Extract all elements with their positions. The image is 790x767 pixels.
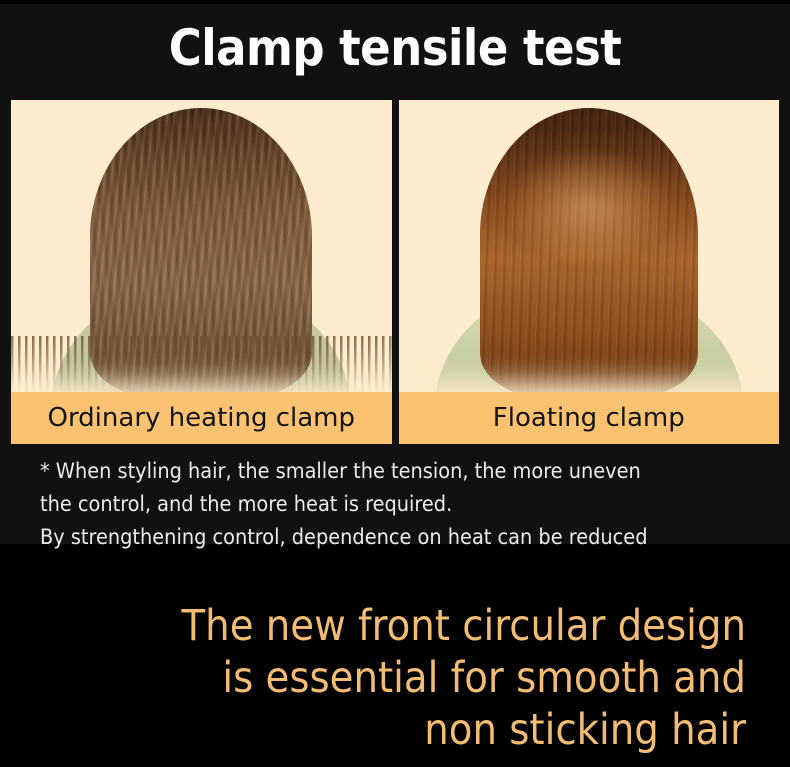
photo-ordinary-heating-clamp — [11, 100, 392, 392]
page-title: Clamp tensile test — [0, 18, 790, 78]
bottom-headline: The new front circular design is essenti… — [36, 600, 746, 756]
split-ends-texture — [11, 336, 392, 392]
comparison-panels: Ordinary heating clamp Floating clamp — [11, 100, 779, 444]
hair-sheen-highlight — [506, 149, 672, 265]
comparison-panel-floating[interactable]: Floating clamp — [399, 100, 780, 444]
note-line-1: * When styling hair, the smaller the ten… — [40, 455, 760, 488]
note-line-3: By strengthening control, dependence on … — [40, 521, 760, 554]
comparison-panel-ordinary[interactable]: Ordinary heating clamp — [11, 100, 392, 444]
headline-line-3: non sticking hair — [36, 704, 746, 756]
headline-line-2: is essential for smooth and — [36, 652, 746, 704]
caption-floating-clamp: Floating clamp — [399, 392, 780, 444]
hair-glossy — [480, 108, 698, 392]
note-line-2: the control, and the more heat is requir… — [40, 488, 760, 521]
headline-line-1: The new front circular design — [36, 600, 746, 652]
photo-floating-clamp — [399, 100, 780, 392]
note-text: * When styling hair, the smaller the ten… — [40, 455, 760, 554]
caption-ordinary-heating-clamp: Ordinary heating clamp — [11, 392, 392, 444]
promo-page: Clamp tensile test Ordinary heating clam… — [0, 0, 790, 767]
